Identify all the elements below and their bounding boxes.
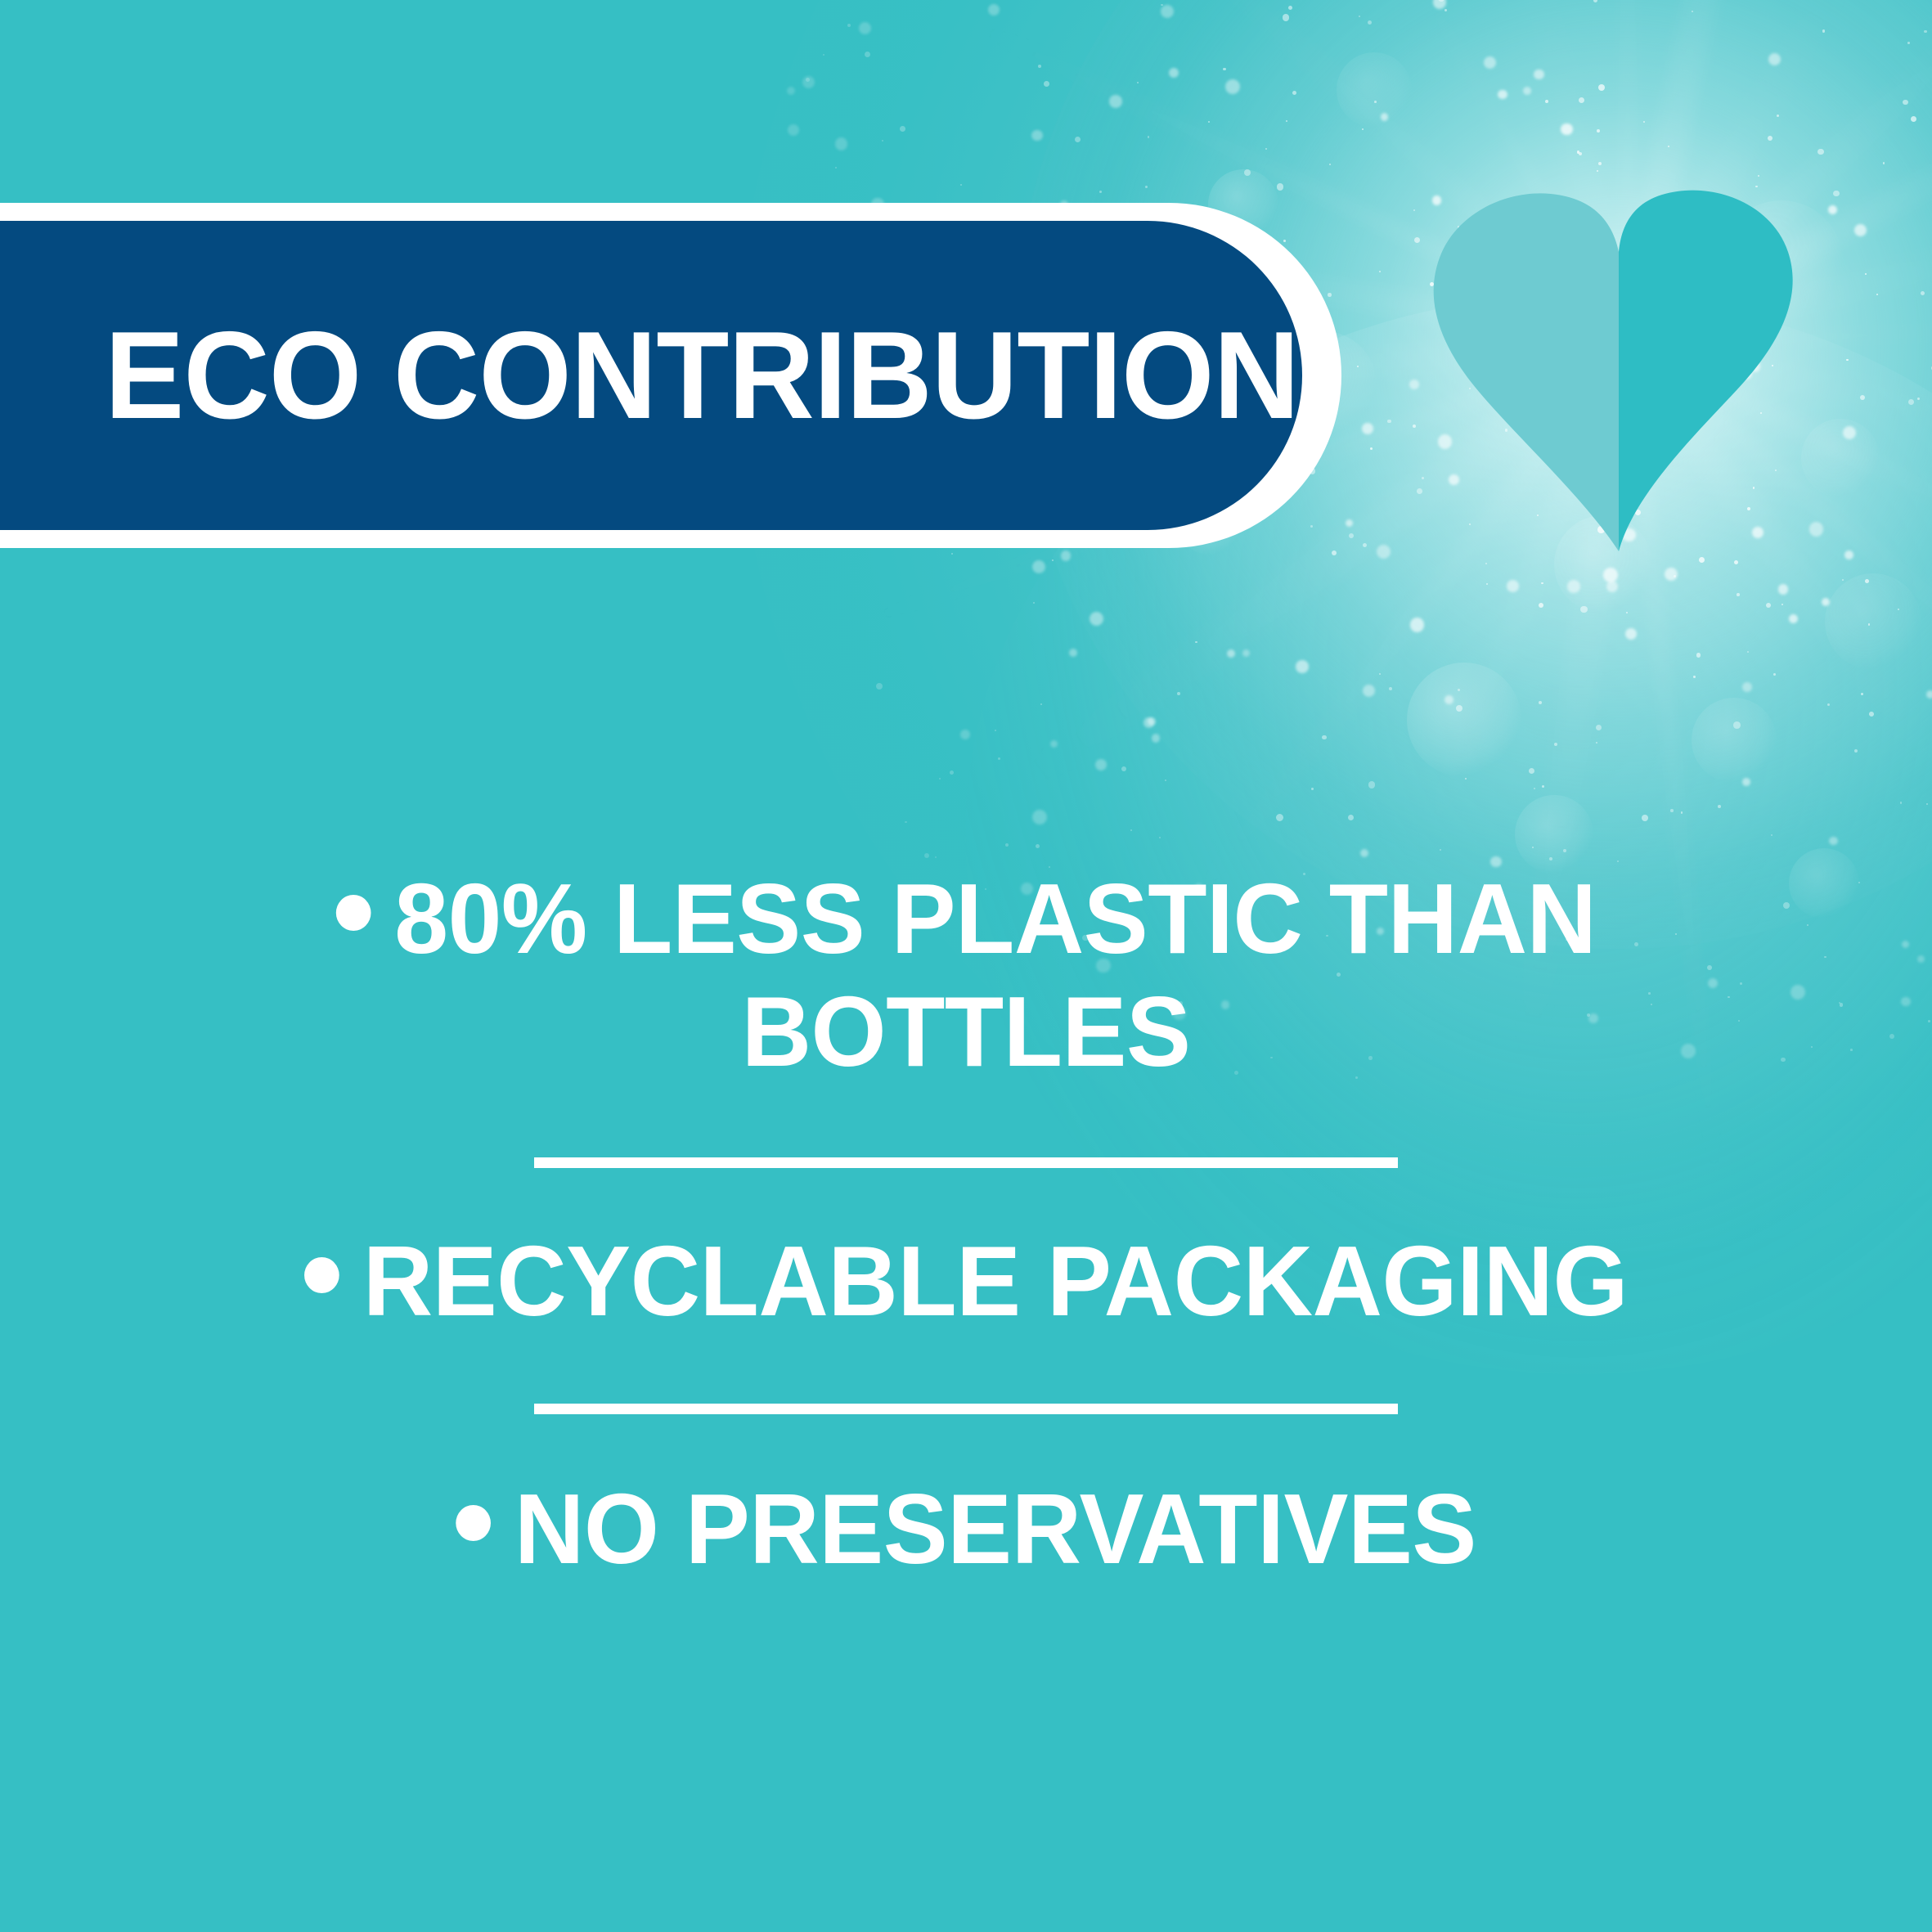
- eco-contribution-poster: ECO CONTRIBUTION 80% LESS PLASTIC THAN B…: [0, 0, 1932, 1932]
- bullet-icon: [456, 1505, 491, 1541]
- banner-fill: ECO CONTRIBUTION: [0, 221, 1302, 530]
- list-item: 80% LESS PLASTIC THAN BOTTLES: [29, 863, 1903, 1089]
- feature-label-3: NO PRESERVATIVES: [514, 1473, 1476, 1584]
- eco-contribution-banner: ECO CONTRIBUTION: [0, 203, 1341, 548]
- bullet-icon: [304, 1257, 339, 1293]
- list-item: RECYCLABLE PACKAGING: [29, 1225, 1903, 1338]
- heart-icon: [1391, 173, 1849, 558]
- list-item: NO PRESERVATIVES: [29, 1473, 1903, 1586]
- bullet-icon: [335, 895, 371, 931]
- feature-divider-2: [534, 1404, 1398, 1414]
- feature-list: 80% LESS PLASTIC THAN BOTTLES RECYCLABLE…: [0, 863, 1932, 1585]
- page-title: ECO CONTRIBUTION: [105, 313, 1299, 438]
- feature-label-1: 80% LESS PLASTIC THAN BOTTLES: [394, 863, 1596, 1087]
- feature-label-2: RECYCLABLE PACKAGING: [363, 1225, 1628, 1337]
- feature-divider-1: [534, 1157, 1398, 1168]
